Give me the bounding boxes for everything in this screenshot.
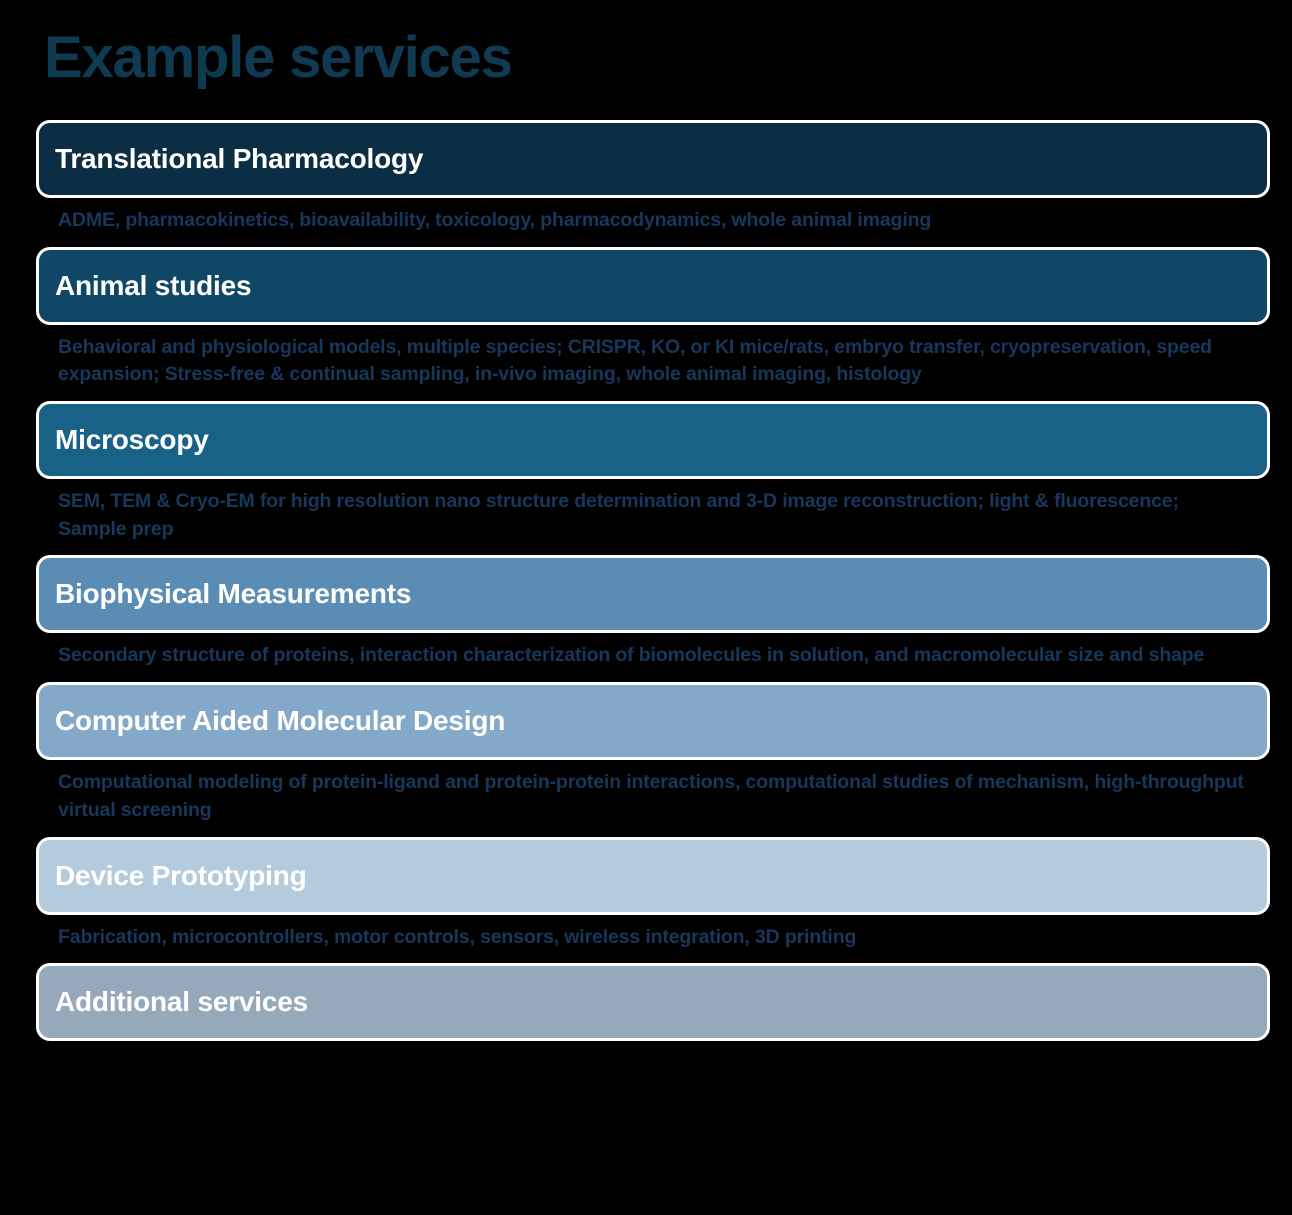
service-card-6[interactable]: Additional services [36, 963, 1270, 1041]
service-card-4[interactable]: Computer Aided Molecular Design [36, 682, 1270, 760]
service-block: MicroscopySEM, TEM & Cryo-EM for high re… [0, 401, 1292, 543]
service-description: Secondary structure of proteins, interac… [58, 642, 1252, 670]
service-block: Device PrototypingFabrication, microcont… [0, 837, 1292, 952]
services-list: Translational PharmacologyADME, pharmaco… [0, 120, 1292, 1071]
bottom-spacer [0, 1041, 1292, 1071]
service-card-label: Computer Aided Molecular Design [55, 707, 505, 735]
service-description: ADME, pharmacokinetics, bioavailability,… [58, 207, 1252, 235]
service-description: SEM, TEM & Cryo-EM for high resolution n… [58, 488, 1252, 543]
service-description: Computational modeling of protein-ligand… [58, 769, 1252, 824]
service-card-2[interactable]: Microscopy [36, 401, 1270, 479]
service-block: Animal studiesBehavioral and physiologic… [0, 247, 1292, 389]
services-page: Example services Translational Pharmacol… [0, 0, 1292, 1215]
service-card-5[interactable]: Device Prototyping [36, 837, 1270, 915]
service-card-label: Translational Pharmacology [55, 145, 423, 173]
service-block: Computer Aided Molecular DesignComputati… [0, 682, 1292, 824]
service-card-label: Biophysical Measurements [55, 580, 411, 608]
service-description: Fabrication, microcontrollers, motor con… [58, 924, 1252, 952]
service-card-label: Device Prototyping [55, 862, 307, 890]
service-card-label: Microscopy [55, 426, 209, 454]
service-block: Biophysical MeasurementsSecondary struct… [0, 555, 1292, 670]
service-description: Behavioral and physiological models, mul… [58, 334, 1252, 389]
service-card-1[interactable]: Animal studies [36, 247, 1270, 325]
service-block: Translational PharmacologyADME, pharmaco… [0, 120, 1292, 235]
service-card-3[interactable]: Biophysical Measurements [36, 555, 1270, 633]
service-card-label: Animal studies [55, 272, 251, 300]
service-block: Additional services [0, 963, 1292, 1041]
service-card-label: Additional services [55, 988, 308, 1016]
page-title: Example services [44, 26, 512, 90]
service-card-0[interactable]: Translational Pharmacology [36, 120, 1270, 198]
